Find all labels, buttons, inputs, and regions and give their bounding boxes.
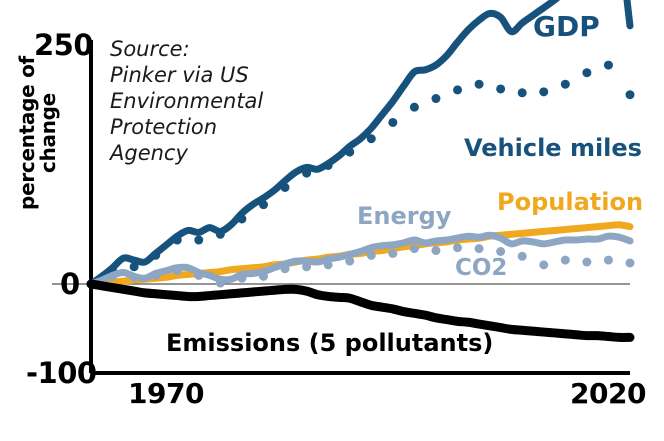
series-marker xyxy=(626,258,635,267)
series-marker xyxy=(302,169,311,178)
source-line-3: Environmental xyxy=(110,89,263,113)
series-marker xyxy=(259,200,268,209)
source-note: Source: Pinker via US Environmental Prot… xyxy=(110,36,325,166)
series-marker xyxy=(410,244,419,253)
series-marker xyxy=(345,148,354,157)
source-line-5: Agency xyxy=(110,141,188,165)
series-label-vehicle-miles: Vehicle miles xyxy=(464,134,642,162)
series-marker xyxy=(194,271,203,280)
series-marker xyxy=(518,252,527,261)
series-marker xyxy=(237,214,246,223)
series-marker xyxy=(151,271,160,280)
series-marker xyxy=(388,118,397,127)
series-label-emissions: Emissions (5 pollutants) xyxy=(166,329,493,357)
series-marker xyxy=(367,134,376,143)
series-marker xyxy=(431,246,440,255)
source-line-2: Pinker via US xyxy=(110,63,249,87)
series-marker xyxy=(475,244,484,253)
source-line-4: Protection xyxy=(110,115,217,139)
chart-plot-area xyxy=(0,0,664,441)
series-marker xyxy=(582,258,591,267)
series-marker xyxy=(475,80,484,89)
series-marker xyxy=(194,236,203,245)
series-marker xyxy=(302,262,311,271)
y-axis-tick-0: 0 xyxy=(60,267,80,301)
series-marker xyxy=(453,243,462,252)
y-axis-title-line2: change xyxy=(36,93,60,173)
series-marker xyxy=(604,61,613,70)
series-marker xyxy=(324,260,333,269)
series-label-population: Population xyxy=(497,188,643,216)
x-axis-tick-1970: 1970 xyxy=(128,377,204,410)
series-marker xyxy=(281,264,290,273)
series-marker xyxy=(345,257,354,266)
chart-container: 250 0 -100 percentage of change Source: … xyxy=(0,0,664,441)
series-marker xyxy=(130,262,139,271)
series-marker xyxy=(604,256,613,265)
series-marker xyxy=(367,251,376,260)
series-marker xyxy=(259,272,268,281)
series-label-co2: CO2 xyxy=(455,255,507,281)
series-marker xyxy=(410,103,419,112)
series-marker xyxy=(561,256,570,265)
series-label-energy: Energy xyxy=(357,202,451,230)
series-marker xyxy=(539,260,548,269)
series-marker xyxy=(582,68,591,77)
series-label-gdp: GDP xyxy=(533,10,600,43)
series-marker xyxy=(216,230,225,239)
series-marker xyxy=(453,85,462,94)
y-axis-title: percentage of change xyxy=(17,33,59,233)
series-marker xyxy=(151,251,160,260)
series-marker xyxy=(431,94,440,103)
series-marker xyxy=(518,88,527,97)
series-marker xyxy=(281,183,290,192)
series-marker xyxy=(561,80,570,89)
source-line-1: Source: xyxy=(110,37,190,61)
series-marker xyxy=(324,161,333,170)
series-marker xyxy=(539,87,548,96)
series-marker xyxy=(626,90,635,99)
x-axis-tick-2020: 2020 xyxy=(570,377,646,410)
series-marker xyxy=(388,249,397,258)
series-marker xyxy=(130,273,139,282)
series-marker xyxy=(173,236,182,245)
series-marker xyxy=(496,84,505,93)
series-marker xyxy=(237,274,246,283)
series-marker xyxy=(216,279,225,288)
series-marker xyxy=(108,272,117,281)
series-marker xyxy=(173,266,182,275)
y-axis-tick-neg100: -100 xyxy=(26,356,97,390)
